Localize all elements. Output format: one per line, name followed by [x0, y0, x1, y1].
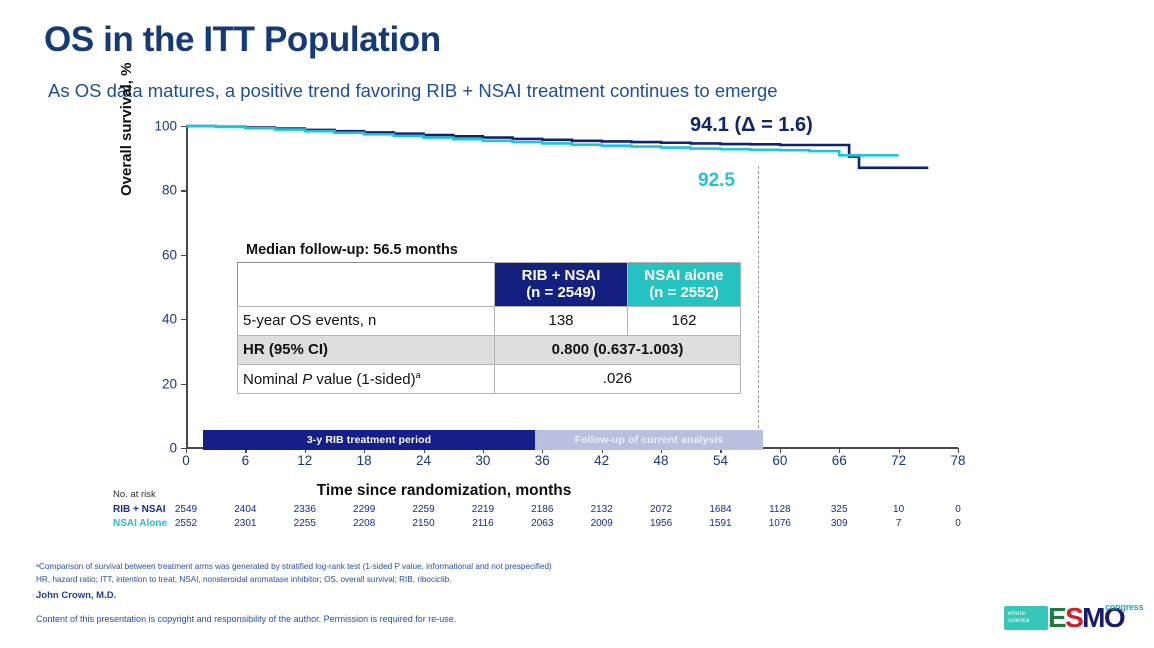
x-tick-label-66: 66 — [832, 453, 847, 468]
risk-value-nsai-48: 1956 — [650, 518, 672, 529]
header-rib-n: (n = 2549) — [499, 284, 623, 301]
pvalue-label-pre: Nominal — [243, 371, 302, 388]
risk-value-nsai-54: 1591 — [709, 518, 731, 529]
x-tick-label-18: 18 — [357, 453, 372, 468]
esmo-badge-text: where science — [1008, 611, 1030, 625]
x-tick-label-0: 0 — [182, 453, 190, 468]
curve-rib-nsai — [186, 126, 928, 168]
risk-value-rib-66: 325 — [831, 504, 848, 515]
table-row: Nominal P value (1-sided)a .026 — [238, 364, 741, 393]
risk-value-nsai-18: 2208 — [353, 518, 375, 529]
x-axis-title: Time since randomization, months — [317, 482, 572, 500]
page-title: OS in the ITT Population — [44, 20, 441, 60]
x-tick-label-78: 78 — [950, 453, 965, 468]
stats-table: RIB + NSAI (n = 2549) NSAI alone (n = 25… — [237, 262, 741, 394]
header-nsai-n: (n = 2552) — [632, 284, 736, 301]
x-tick-label-42: 42 — [594, 453, 609, 468]
pvalue-footnote-marker: a — [416, 370, 421, 380]
esmo-congress-text: congress — [1105, 602, 1143, 612]
risk-value-rib-12: 2336 — [294, 504, 316, 515]
header-nsai-name: NSAI alone — [632, 267, 736, 284]
annotation-nsai-endpoint: 92.5 — [698, 170, 735, 192]
slide-root: OS in the ITT Population As OS data matu… — [0, 0, 1154, 648]
y-tick-label-80: 80 — [131, 183, 186, 198]
y-tick-label-60: 60 — [131, 247, 186, 262]
risk-value-rib-42: 2132 — [591, 504, 613, 515]
page-subtitle: As OS data matures, a positive trend fav… — [48, 80, 778, 102]
pvalue-label-italic: P — [302, 371, 312, 388]
risk-value-nsai-42: 2009 — [591, 518, 613, 529]
header-rib-name: RIB + NSAI — [499, 267, 623, 284]
risk-value-nsai-24: 2150 — [412, 518, 434, 529]
esmo-letter-s: S — [1065, 602, 1082, 633]
esmo-letter-m: M — [1082, 602, 1104, 633]
risk-value-rib-6: 2404 — [234, 504, 256, 515]
footnote-author: John Crown, M.D. — [36, 588, 716, 603]
risk-value-nsai-36: 2063 — [531, 518, 553, 529]
risk-row-label-rib: RIB + NSAI — [113, 504, 166, 515]
esmo-badge-line-1: where — [1008, 611, 1030, 618]
median-followup-label: Median follow-up: 56.5 months — [246, 242, 458, 258]
footnote-line-2: HR, hazard ratio; ITT, intention to trea… — [36, 573, 716, 586]
esmo-logo: where science ESMO congress — [1004, 600, 1140, 636]
risk-value-rib-36: 2186 — [531, 504, 553, 515]
x-tick-mark-0 — [186, 448, 187, 453]
risk-value-rib-54: 1684 — [709, 504, 731, 515]
risk-value-nsai-30: 2116 — [472, 518, 494, 529]
cell-pvalue: .026 — [495, 364, 741, 393]
risk-value-rib-72: 10 — [893, 504, 904, 515]
footnote-line-1: ᵃComparison of survival between treatmen… — [36, 560, 716, 573]
risk-value-nsai-60: 1076 — [769, 518, 791, 529]
pvalue-label-post: value (1-sided) — [312, 371, 415, 388]
risk-value-rib-0: 2549 — [175, 504, 197, 515]
row-label-hr: HR (95% CI) — [238, 335, 495, 364]
y-tick-label-100: 100 — [131, 119, 186, 134]
band-followup-period: Follow-up of current analysis — [535, 430, 763, 450]
table-header-row: RIB + NSAI (n = 2549) NSAI alone (n = 25… — [238, 263, 741, 307]
cell-hr-value: 0.800 (0.637-1.003) — [495, 335, 741, 364]
cell-os-events-rib: 138 — [495, 306, 628, 335]
x-tick-label-54: 54 — [713, 453, 728, 468]
x-tick-label-30: 30 — [475, 453, 490, 468]
risk-value-nsai-78: 0 — [955, 518, 961, 529]
reference-line-60mo — [758, 166, 759, 448]
esmo-badge-line-2: science — [1008, 618, 1030, 625]
footnote-copyright: Content of this presentation is copyrigh… — [36, 612, 716, 627]
row-label-os-events: 5-year OS events, n — [238, 306, 495, 335]
x-tick-label-36: 36 — [535, 453, 550, 468]
risk-value-rib-18: 2299 — [353, 504, 375, 515]
header-rib-nsai: RIB + NSAI (n = 2549) — [495, 263, 628, 307]
y-tick-label-20: 20 — [131, 376, 186, 391]
risk-value-rib-78: 0 — [955, 504, 961, 515]
risk-value-nsai-12: 2255 — [294, 518, 316, 529]
x-tick-label-60: 60 — [772, 453, 787, 468]
x-tick-label-12: 12 — [297, 453, 312, 468]
x-tick-label-24: 24 — [416, 453, 431, 468]
x-tick-label-6: 6 — [242, 453, 250, 468]
header-blank-cell — [238, 263, 495, 307]
risk-table-title: No. at risk — [113, 489, 156, 500]
risk-value-nsai-66: 309 — [831, 518, 848, 529]
risk-value-nsai-6: 2301 — [234, 518, 256, 529]
table-row: HR (95% CI) 0.800 (0.637-1.003) — [238, 335, 741, 364]
cell-os-events-nsai: 162 — [628, 306, 741, 335]
risk-value-rib-24: 2259 — [412, 504, 434, 515]
band-treatment-period: 3-y RIB treatment period — [203, 430, 535, 450]
risk-row-label-nsai: NSAI Alone — [113, 518, 167, 529]
x-tick-mark-72 — [899, 448, 900, 453]
y-tick-label-0: 0 — [131, 441, 186, 456]
annotation-rib-endpoint: 94.1 (Δ = 1.6) — [690, 114, 813, 137]
risk-value-nsai-72: 7 — [896, 518, 902, 529]
table-row: 5-year OS events, n 138 162 — [238, 306, 741, 335]
row-label-pvalue: Nominal P value (1-sided)a — [238, 364, 495, 393]
x-tick-mark-60 — [780, 448, 781, 453]
x-tick-mark-66 — [839, 448, 840, 453]
esmo-letter-e: E — [1048, 602, 1065, 633]
footnotes: ᵃComparison of survival between treatmen… — [36, 560, 716, 627]
risk-value-rib-60: 1128 — [769, 504, 791, 515]
risk-value-nsai-0: 2552 — [175, 518, 197, 529]
x-tick-mark-78 — [958, 448, 959, 453]
y-tick-label-40: 40 — [131, 312, 186, 327]
header-nsai-alone: NSAI alone (n = 2552) — [628, 263, 741, 307]
x-tick-label-48: 48 — [654, 453, 669, 468]
risk-value-rib-30: 2219 — [472, 504, 494, 515]
risk-value-rib-48: 2072 — [650, 504, 672, 515]
x-tick-label-72: 72 — [891, 453, 906, 468]
